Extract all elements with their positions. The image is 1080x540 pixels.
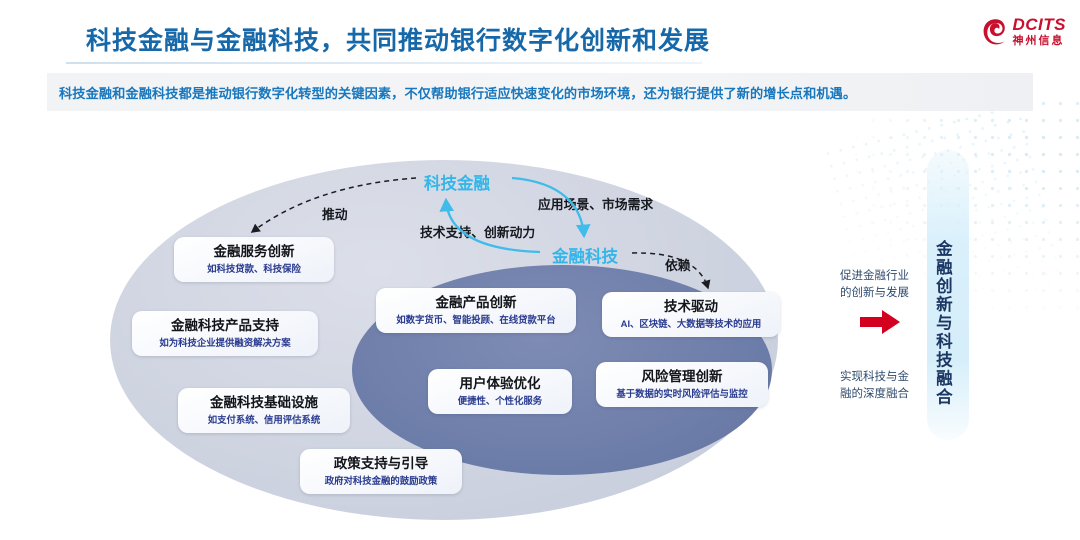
card-inner-2[interactable]: 用户体验优化 便捷性、个性化服务 (428, 369, 572, 414)
subtitle-banner: 科技金融和金融科技都是推动银行数字化转型的关键因素，不仅帮助银行适应快速变化的市… (47, 73, 1033, 111)
brand-logo: DCITS 神州信息 (982, 16, 1067, 47)
card-subtitle: 如科技贷款、科技保险 (184, 263, 324, 274)
card-outer-2[interactable]: 金融科技基础设施 如支付系统、信用评估系统 (178, 388, 350, 433)
right-vertical-title: 金融创新与科技融合 (933, 240, 950, 407)
right-note-top: 促进金融行业 的创新与发展 (840, 268, 932, 301)
card-title: 金融产品创新 (386, 295, 566, 312)
page-title: 科技金融与金融科技，共同推动银行数字化创新和发展 (86, 21, 710, 57)
card-outer-0[interactable]: 金融服务创新 如科技贷款、科技保险 (174, 237, 334, 282)
right-note-bottom: 实现科技与金 融的深度融合 (840, 369, 932, 402)
label-connector-depend: 依赖 (665, 255, 691, 274)
right-arrow-icon (858, 307, 902, 337)
subtitle-text: 科技金融和金融科技都是推动银行数字化转型的关键因素，不仅帮助银行适应快速变化的市… (47, 83, 856, 102)
card-title: 政策支持与引导 (310, 456, 452, 473)
card-title: 金融科技产品支持 (142, 318, 308, 335)
card-outer-1[interactable]: 金融科技产品支持 如为科技企业提供融资解决方案 (132, 311, 318, 356)
title-underline (66, 62, 702, 64)
card-subtitle: AI、区块链、大数据等技术的应用 (612, 318, 770, 329)
card-subtitle: 基于数据的实时风险评估与监控 (606, 388, 758, 399)
card-subtitle: 如数字货币、智能投顾、在线贷款平台 (386, 314, 566, 325)
card-inner-0[interactable]: 金融产品创新 如数字货币、智能投顾、在线贷款平台 (376, 288, 576, 333)
card-title: 风险管理创新 (606, 369, 758, 386)
dcits-swirl-logo-icon (982, 18, 1008, 46)
card-inner-3[interactable]: 风险管理创新 基于数据的实时风险评估与监控 (596, 362, 768, 407)
card-subtitle: 政府对科技金融的鼓励政策 (310, 475, 452, 486)
slide-canvas: 科技金融与金融科技，共同推动银行数字化创新和发展 DCITS 神州信息 科技金融… (0, 0, 1080, 540)
card-subtitle: 便捷性、个性化服务 (438, 395, 562, 406)
label-outer-region: 科技金融 (424, 170, 490, 194)
logo-english-text: DCITS (1013, 16, 1067, 33)
card-title: 用户体验优化 (438, 376, 562, 393)
card-title: 金融科技基础设施 (188, 395, 340, 412)
label-connector-tech-support: 技术支持、创新动力 (420, 222, 535, 241)
card-subtitle: 如为科技企业提供融资解决方案 (142, 337, 308, 348)
card-outer-3[interactable]: 政策支持与引导 政府对科技金融的鼓励政策 (300, 449, 462, 494)
label-inner-region: 金融科技 (552, 243, 618, 267)
label-connector-push: 推动 (322, 204, 348, 223)
card-inner-1[interactable]: 技术驱动 AI、区块链、大数据等技术的应用 (602, 292, 780, 337)
card-subtitle: 如支付系统、信用评估系统 (188, 414, 340, 425)
card-title: 技术驱动 (612, 299, 770, 316)
logo-chinese-text: 神州信息 (1013, 36, 1067, 47)
card-title: 金融服务创新 (184, 244, 324, 261)
label-connector-application: 应用场景、市场需求 (538, 194, 653, 213)
